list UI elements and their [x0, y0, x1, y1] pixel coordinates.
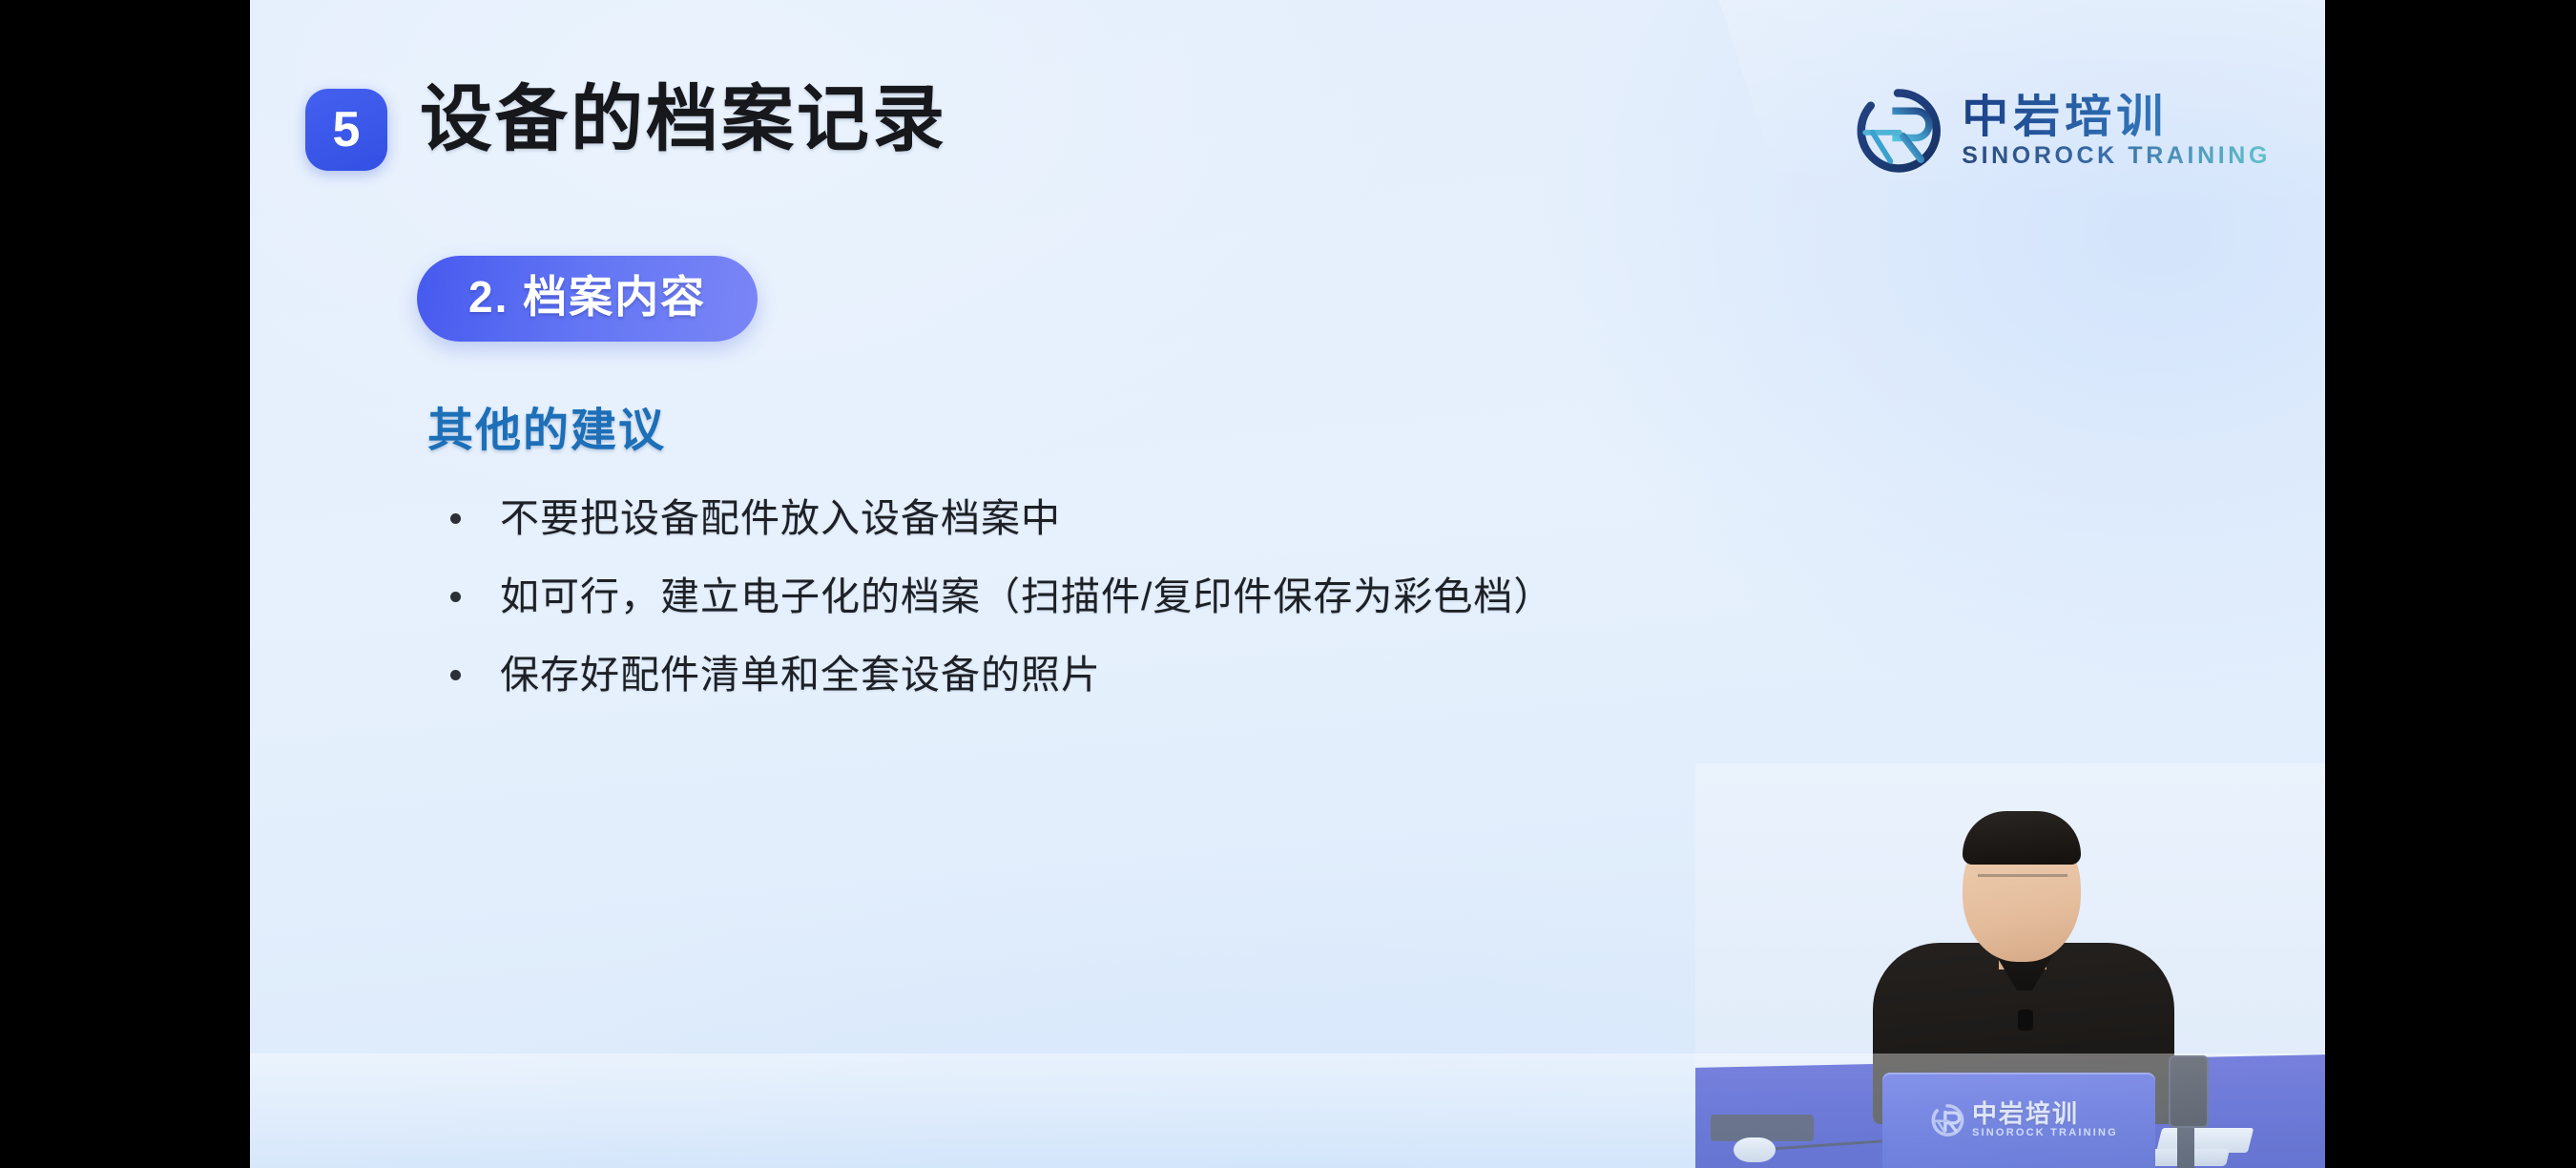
- laptop-brand-name-cn: 中岩培训: [1972, 1101, 2118, 1126]
- section-number-badge: 5: [305, 89, 387, 171]
- smartphone-icon: [2169, 1055, 2209, 1128]
- subheading: 其他的建议: [427, 408, 666, 454]
- video-player-stage: 5 设备的档案记录: [0, 0, 2576, 1168]
- page-title: 设备的档案记录: [420, 84, 947, 156]
- list-item: 如可行，建立电子化的档案（扫描件/复印件保存为彩色档）: [427, 570, 2145, 648]
- list-item: 保存好配件清单和全套设备的照片: [427, 648, 2145, 726]
- computer-mouse-icon: [1734, 1137, 1776, 1162]
- brand-name-en: SINOROCK TRAINING: [1962, 144, 2271, 168]
- presentation-slide: 5 设备的档案记录: [250, 0, 2325, 1168]
- bullet-dot-icon: [427, 491, 479, 545]
- bullet-dot-icon: [427, 570, 479, 623]
- list-item-text: 如可行，建立电子化的档案（扫描件/复印件保存为彩色档）: [479, 570, 1553, 623]
- sinorock-r-monogram-icon: [1853, 86, 1942, 176]
- brand-wordmark: 中岩培训 SINOROCK TRAINING: [1962, 94, 2271, 168]
- laptop: 中岩培训 SINOROCK TRAINING: [1882, 1073, 2155, 1168]
- bullet-dot-icon: [427, 648, 479, 701]
- laptop-brand-wordmark: 中岩培训 SINOROCK TRAINING: [1972, 1101, 2118, 1138]
- section-label-pill: 2. 档案内容: [417, 256, 758, 342]
- lapel-microphone-icon: [2018, 1010, 2033, 1031]
- list-item-text: 保存好配件清单和全套设备的照片: [479, 648, 1101, 701]
- list-item: 不要把设备配件放入设备档案中: [427, 491, 2145, 570]
- presenter-video-overlay: 中岩培训 SINOROCK TRAINING: [1695, 763, 2325, 1168]
- brand-logo: 中岩培训 SINOROCK TRAINING: [1853, 84, 2271, 177]
- sinorock-r-monogram-icon: [1930, 1103, 1964, 1137]
- bullet-list: 不要把设备配件放入设备档案中 如可行，建立电子化的档案（扫描件/复印件保存为彩色…: [427, 491, 2145, 726]
- slide-header: 5 设备的档案记录: [250, 0, 2325, 200]
- presenter-hair: [1963, 811, 2081, 865]
- laptop-brand-logo: 中岩培训 SINOROCK TRAINING: [1930, 1101, 2118, 1138]
- presenter-glasses: [1978, 874, 2067, 891]
- list-item-text: 不要把设备配件放入设备档案中: [479, 491, 1061, 545]
- laptop-brand-name-en: SINOROCK TRAINING: [1972, 1128, 2118, 1138]
- letterbox-left: [0, 0, 250, 1168]
- letterbox-right: [2325, 0, 2576, 1168]
- brand-name-cn: 中岩培训: [1962, 94, 2271, 140]
